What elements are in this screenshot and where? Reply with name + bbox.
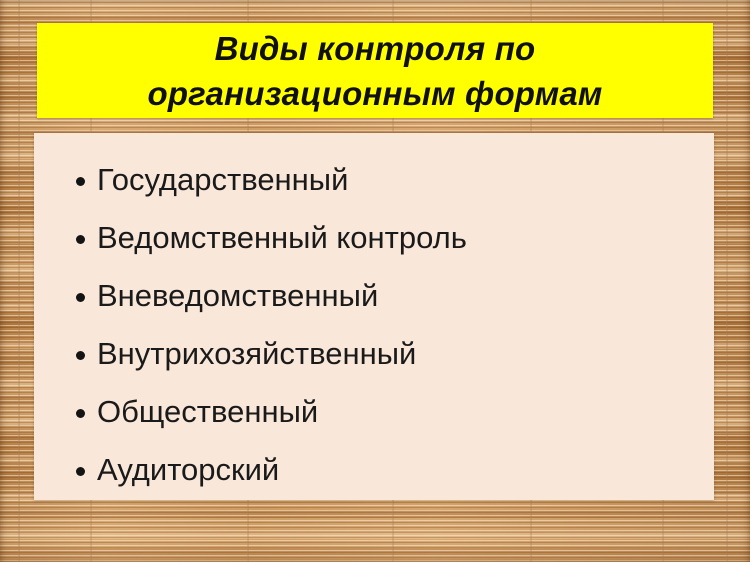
list-item-label: Аудиторский	[97, 453, 279, 487]
bullet-dot-icon	[76, 177, 85, 186]
bullet-dot-icon	[76, 409, 85, 418]
list-item-label: Вневедомственный	[97, 279, 378, 313]
list-item: Общественный	[34, 383, 714, 441]
bullet-dot-icon	[76, 293, 85, 302]
list-item-label: Внутрихозяйственный	[97, 337, 416, 371]
list-item-label: Ведомственный контроль	[97, 221, 467, 255]
list-item-label: Государственный	[97, 163, 348, 197]
bullet-dot-icon	[76, 235, 85, 244]
list-item: Внутрихозяйственный	[34, 325, 714, 383]
slide-content-panel: Государственный Ведомственный контроль В…	[34, 133, 714, 500]
bullet-dot-icon	[76, 467, 85, 476]
slide-title-line-1: Виды контроля по	[215, 26, 536, 71]
bullet-list: Государственный Ведомственный контроль В…	[34, 151, 714, 499]
slide-title-line-2: организационным формам	[147, 71, 602, 116]
presentation-slide: Виды контроля по организационным формам …	[0, 0, 750, 562]
list-item: Вневедомственный	[34, 267, 714, 325]
slide-title-banner: Виды контроля по организационным формам	[37, 23, 713, 118]
list-item: Ведомственный контроль	[34, 209, 714, 267]
list-item: Государственный	[34, 151, 714, 209]
wood-seam-line	[18, 0, 20, 562]
list-item-label: Общественный	[97, 395, 318, 429]
list-item: Аудиторский	[34, 441, 714, 499]
wood-seam-line	[726, 0, 728, 562]
bullet-dot-icon	[76, 351, 85, 360]
